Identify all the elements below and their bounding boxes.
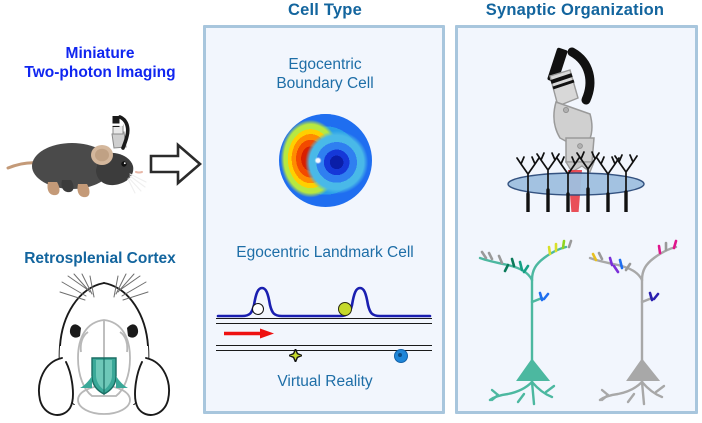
column-header-cell-type: Cell Type bbox=[205, 1, 445, 20]
ebc-line2: Boundary Cell bbox=[205, 74, 445, 93]
label-egocentric-boundary-cell: Egocentric Boundary Cell bbox=[205, 55, 445, 93]
headmounted-mouse-icon bbox=[4, 108, 149, 200]
label-miniature-two-photon-imaging: Miniature Two-photon Imaging bbox=[0, 44, 200, 82]
ratemap-top-tab bbox=[320, 114, 331, 118]
two-photon-objective-schematic bbox=[478, 42, 678, 212]
landmark-cross-marker bbox=[289, 349, 302, 362]
imaging-label-line2: Two-photon Imaging bbox=[0, 63, 200, 82]
egocentric-boundary-ratemap bbox=[279, 114, 372, 207]
label-virtual-reality: Virtual Reality bbox=[205, 372, 445, 391]
track-line-top bbox=[216, 318, 432, 324]
imaging-label-line1: Miniature bbox=[0, 44, 200, 63]
tuning-curve-trace bbox=[216, 285, 432, 321]
virtual-reality-track-schematic bbox=[216, 285, 432, 369]
column-header-synaptic-organization: Synaptic Organization bbox=[452, 1, 698, 20]
block-arrow-right-icon bbox=[148, 138, 203, 190]
labeled-vs-unlabeled-neurons bbox=[462, 232, 694, 410]
landmark-green-circle bbox=[338, 302, 352, 316]
ebc-line1: Egocentric bbox=[205, 55, 445, 74]
landmark-open-circle bbox=[252, 303, 264, 315]
label-egocentric-landmark-cell: Egocentric Landmark Cell bbox=[205, 243, 445, 262]
mouse-brain-dorsal-icon bbox=[18, 272, 200, 422]
landmark-blue-circle bbox=[394, 349, 408, 363]
label-retrosplenial-cortex: Retrosplenial Cortex bbox=[0, 250, 200, 268]
running-direction-arrow bbox=[224, 328, 276, 339]
